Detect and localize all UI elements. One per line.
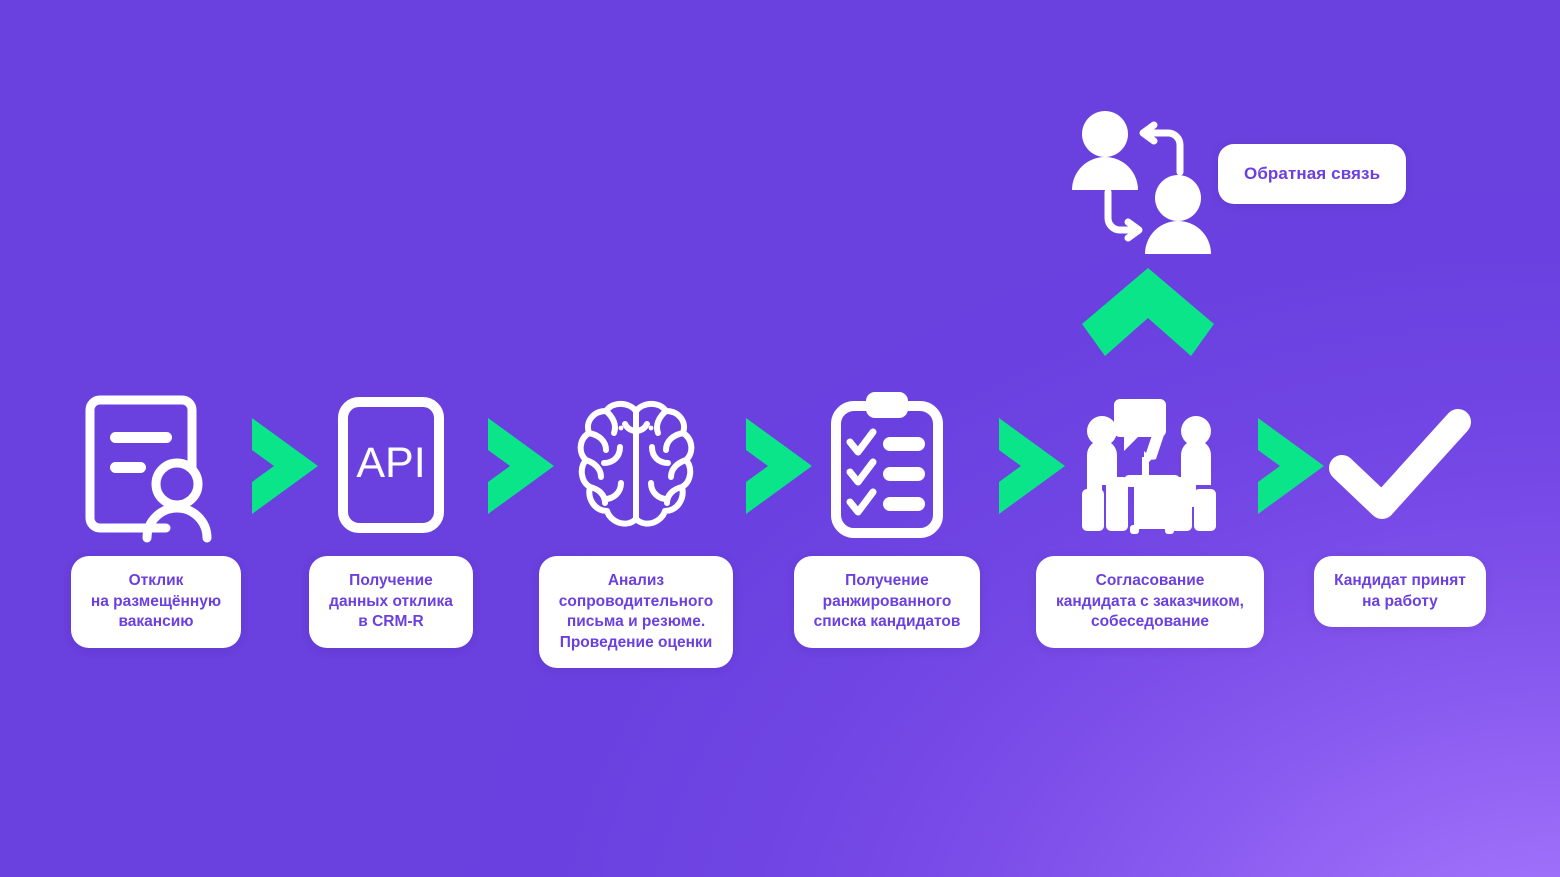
flow-step-6: Кандидат принят на работу: [1310, 390, 1490, 627]
brain-icon: [573, 390, 699, 540]
flow-step-3: Анализ сопроводительного письма и резюме…: [534, 390, 738, 668]
clipboard-checklist-icon: [831, 390, 943, 540]
feedback-cluster: Обратная связь: [1070, 108, 1410, 268]
flow-step-4: Получение ранжированного списка кандидат…: [786, 390, 988, 648]
feedback-pill[interactable]: Обратная связь: [1218, 144, 1406, 204]
flow-step-5: Согласование кандидата с заказчиком, соб…: [1036, 390, 1264, 648]
feedback-loop-icon: [1070, 108, 1230, 263]
flow-step-5-label: Согласование кандидата с заказчиком, соб…: [1036, 556, 1264, 648]
interview-meeting-icon: [1080, 390, 1220, 540]
flow-step-2-label: Получение данных отклика в CRM-R: [309, 556, 473, 648]
feedback-pill-label: Обратная связь: [1244, 164, 1380, 183]
flow-step-1-label: Отклик на размещённую вакансию: [71, 556, 241, 648]
infographic-canvas: Обратная связь Отклик на размещённую вак…: [0, 0, 1560, 877]
flow-step-4-label: Получение ранжированного списка кандидат…: [794, 556, 981, 648]
flow-step-6-label: Кандидат принят на работу: [1314, 556, 1486, 627]
chevron-up-icon: [1082, 268, 1214, 356]
checkmark-icon: [1332, 390, 1468, 540]
api-box-text: API: [356, 439, 425, 487]
flow-step-2: API Получение данных отклика в CRM-R: [296, 390, 486, 648]
flow-step-3-label: Анализ сопроводительного письма и резюме…: [539, 556, 733, 668]
document-person-icon: [86, 390, 226, 540]
flow-step-1: Отклик на размещённую вакансию: [62, 390, 250, 648]
api-box-icon: API: [338, 390, 444, 540]
process-flow: Отклик на размещённую вакансию API Получ…: [0, 390, 1560, 690]
